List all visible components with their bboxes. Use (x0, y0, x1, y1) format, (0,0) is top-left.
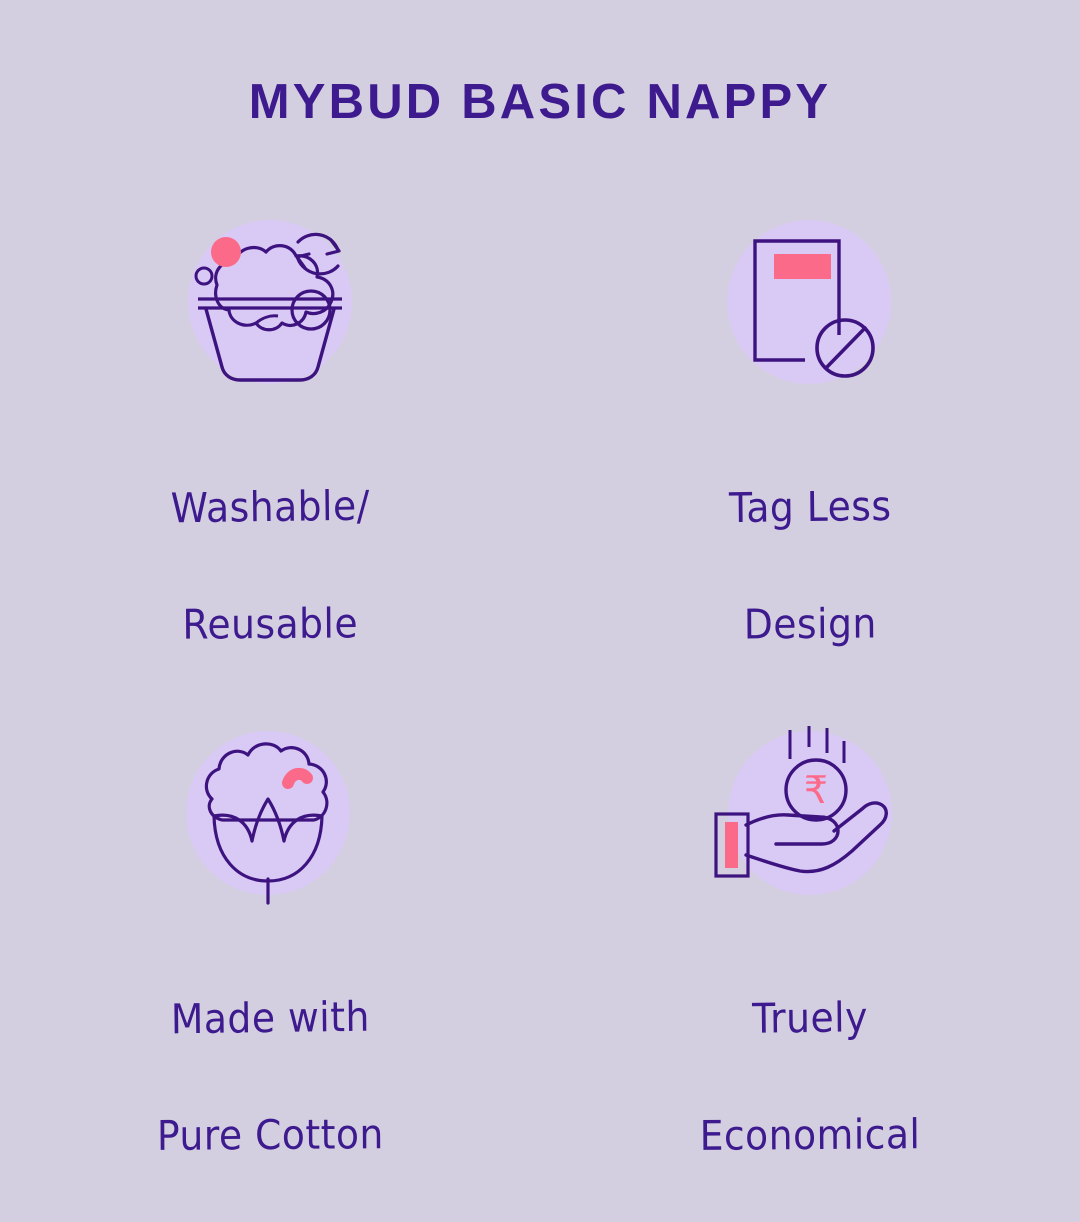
feature-economical: ₹ Truely Economical (540, 711, 1080, 1222)
feature-label-line2: Pure Cotton (156, 1105, 383, 1165)
feature-label-line2: Design (729, 594, 892, 653)
product-feature-infographic: MYBUD BASIC NAPPY (0, 0, 1080, 1080)
feature-label-line2: Reusable (170, 594, 370, 654)
feature-label-washable: Washable/ Reusable (170, 420, 369, 711)
feature-label-line2: Economical (699, 1105, 920, 1165)
feature-label-economical: Truely Economical (700, 931, 921, 1222)
feature-grid: Washable/ Reusable Tag Less (0, 196, 1080, 996)
feature-cotton: Made with Pure Cotton (0, 711, 540, 1222)
cotton-boll-icon (168, 713, 368, 913)
wash-basin-icon (170, 202, 370, 402)
feature-label-line1: Washable/ (170, 477, 370, 538)
feature-washable: Washable/ Reusable (0, 196, 540, 711)
feature-label-cotton: Made with Pure Cotton (157, 931, 384, 1222)
feature-tagless: Tag Less Design (540, 196, 1080, 711)
svg-text:₹: ₹ (804, 768, 828, 812)
feature-label-line1: Tag Less (728, 477, 891, 537)
feature-label-tagless: Tag Less Design (729, 420, 891, 711)
page-title: MYBUD BASIC NAPPY (0, 74, 1080, 130)
feature-label-line1: Made with (156, 988, 384, 1049)
hand-with-rupee-coin-icon: ₹ (710, 713, 910, 913)
tag-less-icon (709, 202, 909, 402)
feature-label-line1: Truely (699, 988, 920, 1049)
